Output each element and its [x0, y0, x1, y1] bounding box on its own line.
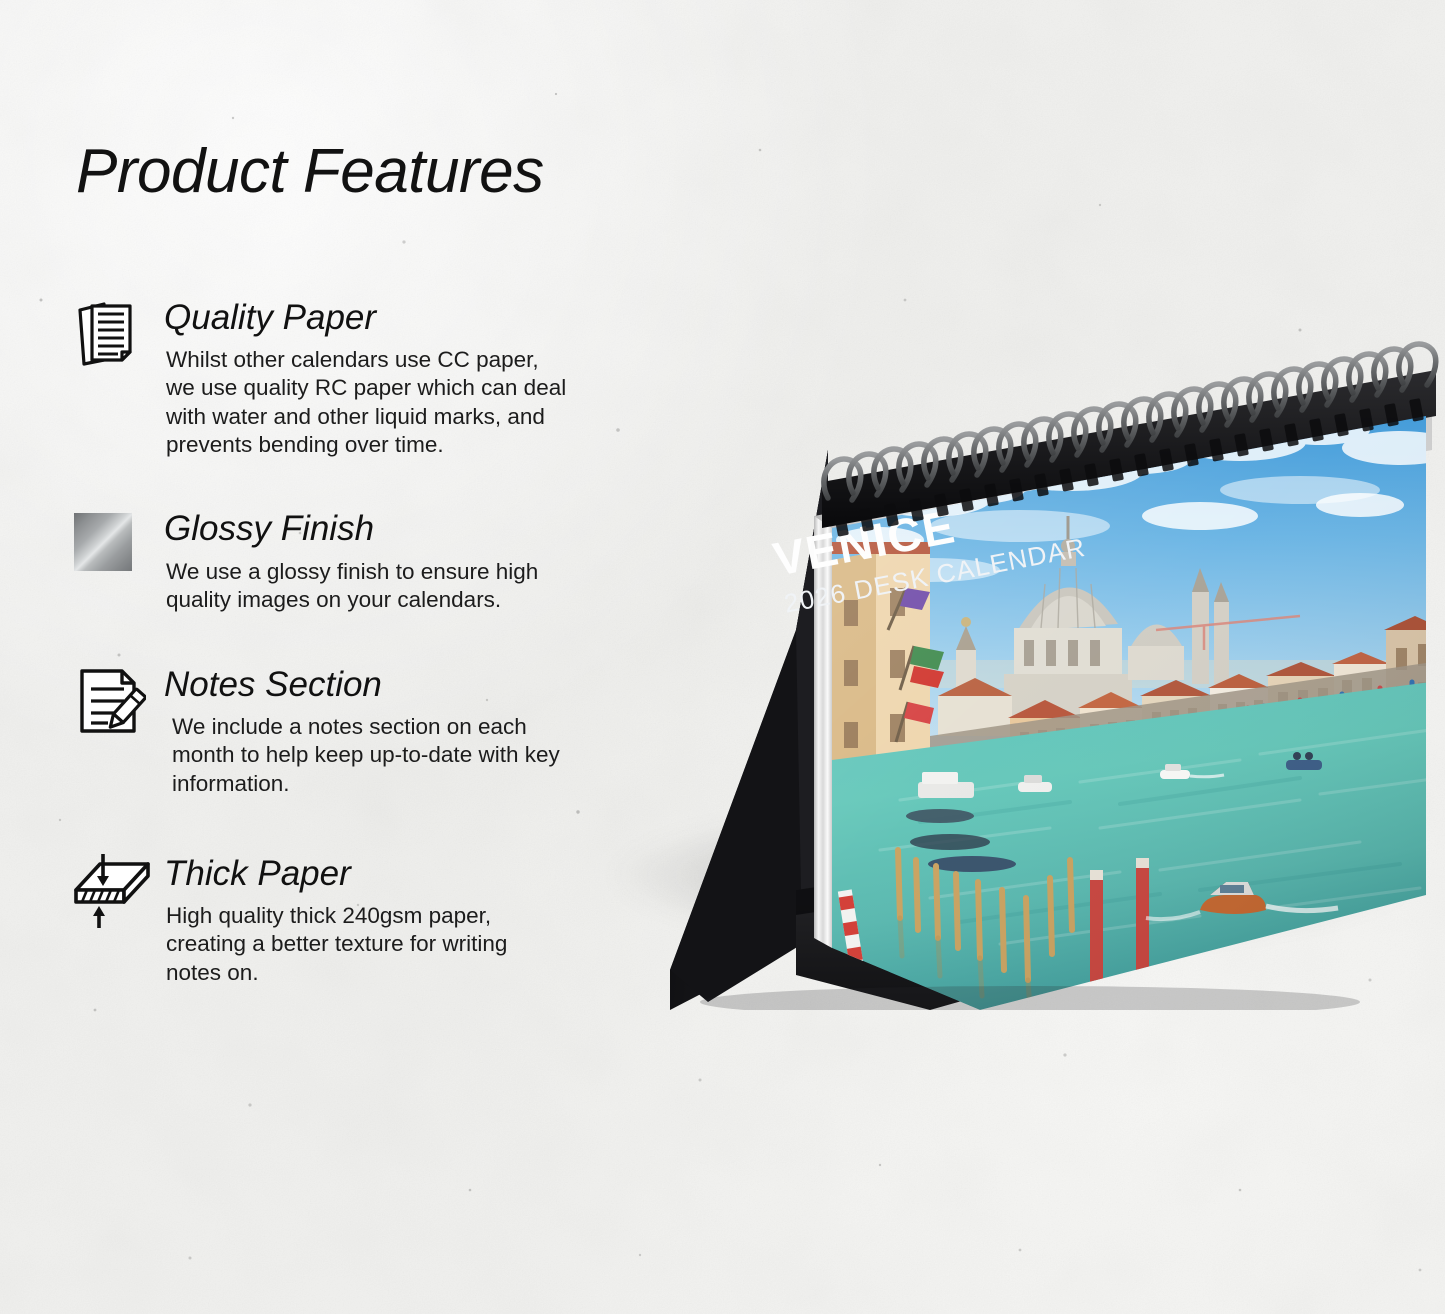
- desk-calendar-mockup: VENICE 2026 DESK CALENDAR: [600, 330, 1445, 1010]
- gloss-swatch-icon: [70, 505, 146, 581]
- document-pencil-icon: [70, 663, 146, 739]
- features-column: Product Features Quality: [0, 0, 640, 1314]
- contact-shadow: [700, 986, 1360, 1010]
- gloss-swatch-shape: [74, 513, 132, 571]
- stacked-documents-icon: [70, 296, 146, 372]
- paper-thickness-icon: [70, 848, 146, 924]
- page-title: Product Features: [76, 136, 544, 207]
